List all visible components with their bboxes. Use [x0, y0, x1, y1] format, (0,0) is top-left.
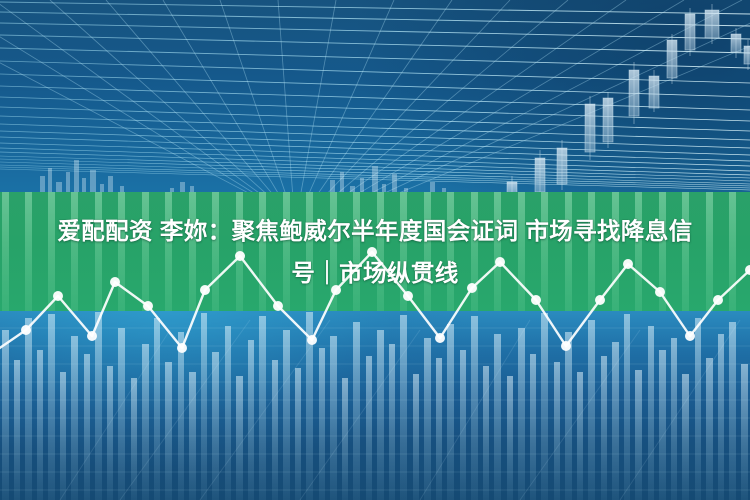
- index-point-marker: [531, 295, 541, 305]
- index-point-marker: [331, 285, 341, 295]
- index-point-marker: [495, 257, 505, 267]
- index-point-marker: [143, 301, 153, 311]
- index-polyline-markers: [21, 247, 750, 353]
- banner-image: 爱配配资 李妳：聚焦鲍威尔半年度国会证词 市场寻找降息信 号｜市场纵贯线: [0, 0, 750, 500]
- index-point-marker: [435, 333, 445, 343]
- index-point-marker: [273, 301, 283, 311]
- index-point-marker: [713, 295, 723, 305]
- index-point-marker: [467, 283, 477, 293]
- index-point-marker: [655, 287, 665, 297]
- index-point-marker: [87, 331, 97, 341]
- index-point-marker: [595, 295, 605, 305]
- index-point-marker: [307, 335, 317, 345]
- index-point-marker: [561, 341, 571, 351]
- index-point-marker: [367, 247, 377, 257]
- index-point-marker: [110, 277, 120, 287]
- index-point-marker: [685, 331, 695, 341]
- index-point-marker: [200, 285, 210, 295]
- index-point-marker: [623, 259, 633, 269]
- index-polyline-layer: [0, 0, 750, 500]
- index-point-marker: [21, 325, 31, 335]
- index-polyline: [0, 252, 750, 356]
- index-point-marker: [53, 291, 63, 301]
- index-point-marker: [235, 251, 245, 261]
- index-point-marker: [177, 343, 187, 353]
- index-point-marker: [403, 291, 413, 301]
